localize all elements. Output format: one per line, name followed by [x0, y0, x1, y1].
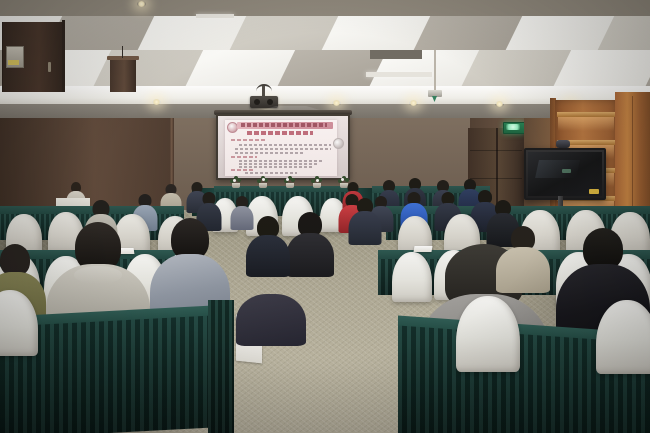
attendee-row2-b — [348, 198, 382, 242]
table-plant — [256, 176, 270, 188]
video-camera-icon — [556, 140, 570, 148]
speaker-podium — [110, 58, 136, 92]
projection-screen — [216, 114, 350, 180]
downlight-icon — [495, 101, 504, 107]
monitor-badge-icon — [589, 189, 599, 194]
ceiling-hanger-rod — [434, 50, 436, 92]
ceiling-panel-grid — [0, 16, 650, 90]
attendee-beige — [496, 226, 550, 288]
slide-banner-text — [241, 123, 327, 127]
table-end-left — [208, 300, 234, 433]
ceiling-light-strip — [366, 72, 432, 77]
wood-pillar-seam — [632, 96, 633, 214]
downlight-icon — [137, 1, 146, 7]
downlight-icon — [332, 100, 341, 106]
downlight-icon — [409, 100, 418, 106]
exit-running-man-icon — [506, 124, 520, 130]
projector-icon — [250, 96, 278, 108]
monitor-screen — [528, 152, 602, 196]
jacket-highlight — [74, 266, 122, 284]
slide-title-text — [247, 131, 313, 135]
monitor-logo-icon — [562, 169, 571, 173]
table-plant — [283, 176, 297, 188]
table-plant — [229, 176, 243, 188]
wall-display-monitor[interactable] — [524, 148, 606, 200]
door-frame-left — [62, 20, 65, 92]
ceiling-vent — [370, 50, 422, 59]
attendee-bottom-seated — [236, 294, 306, 346]
screen-corner-knob — [333, 138, 344, 149]
podium-top — [107, 56, 139, 60]
conference-room-photo: Conference Room Training Session seated-… — [0, 0, 650, 433]
podium-microphone-icon — [122, 46, 123, 58]
attendee-dark-navy — [246, 216, 290, 272]
ceiling-light-strip-2 — [196, 14, 234, 18]
screen-reflection — [535, 160, 580, 178]
presentation-slide — [225, 120, 337, 176]
attendee-black-coat — [286, 212, 334, 272]
downlight-icon — [152, 99, 161, 105]
table-plant — [310, 176, 324, 188]
ceiling-sensor-icon — [428, 90, 442, 97]
screen-surface — [218, 116, 348, 178]
door-handle-icon[interactable] — [48, 62, 51, 72]
wall-sign-tag — [8, 60, 19, 65]
